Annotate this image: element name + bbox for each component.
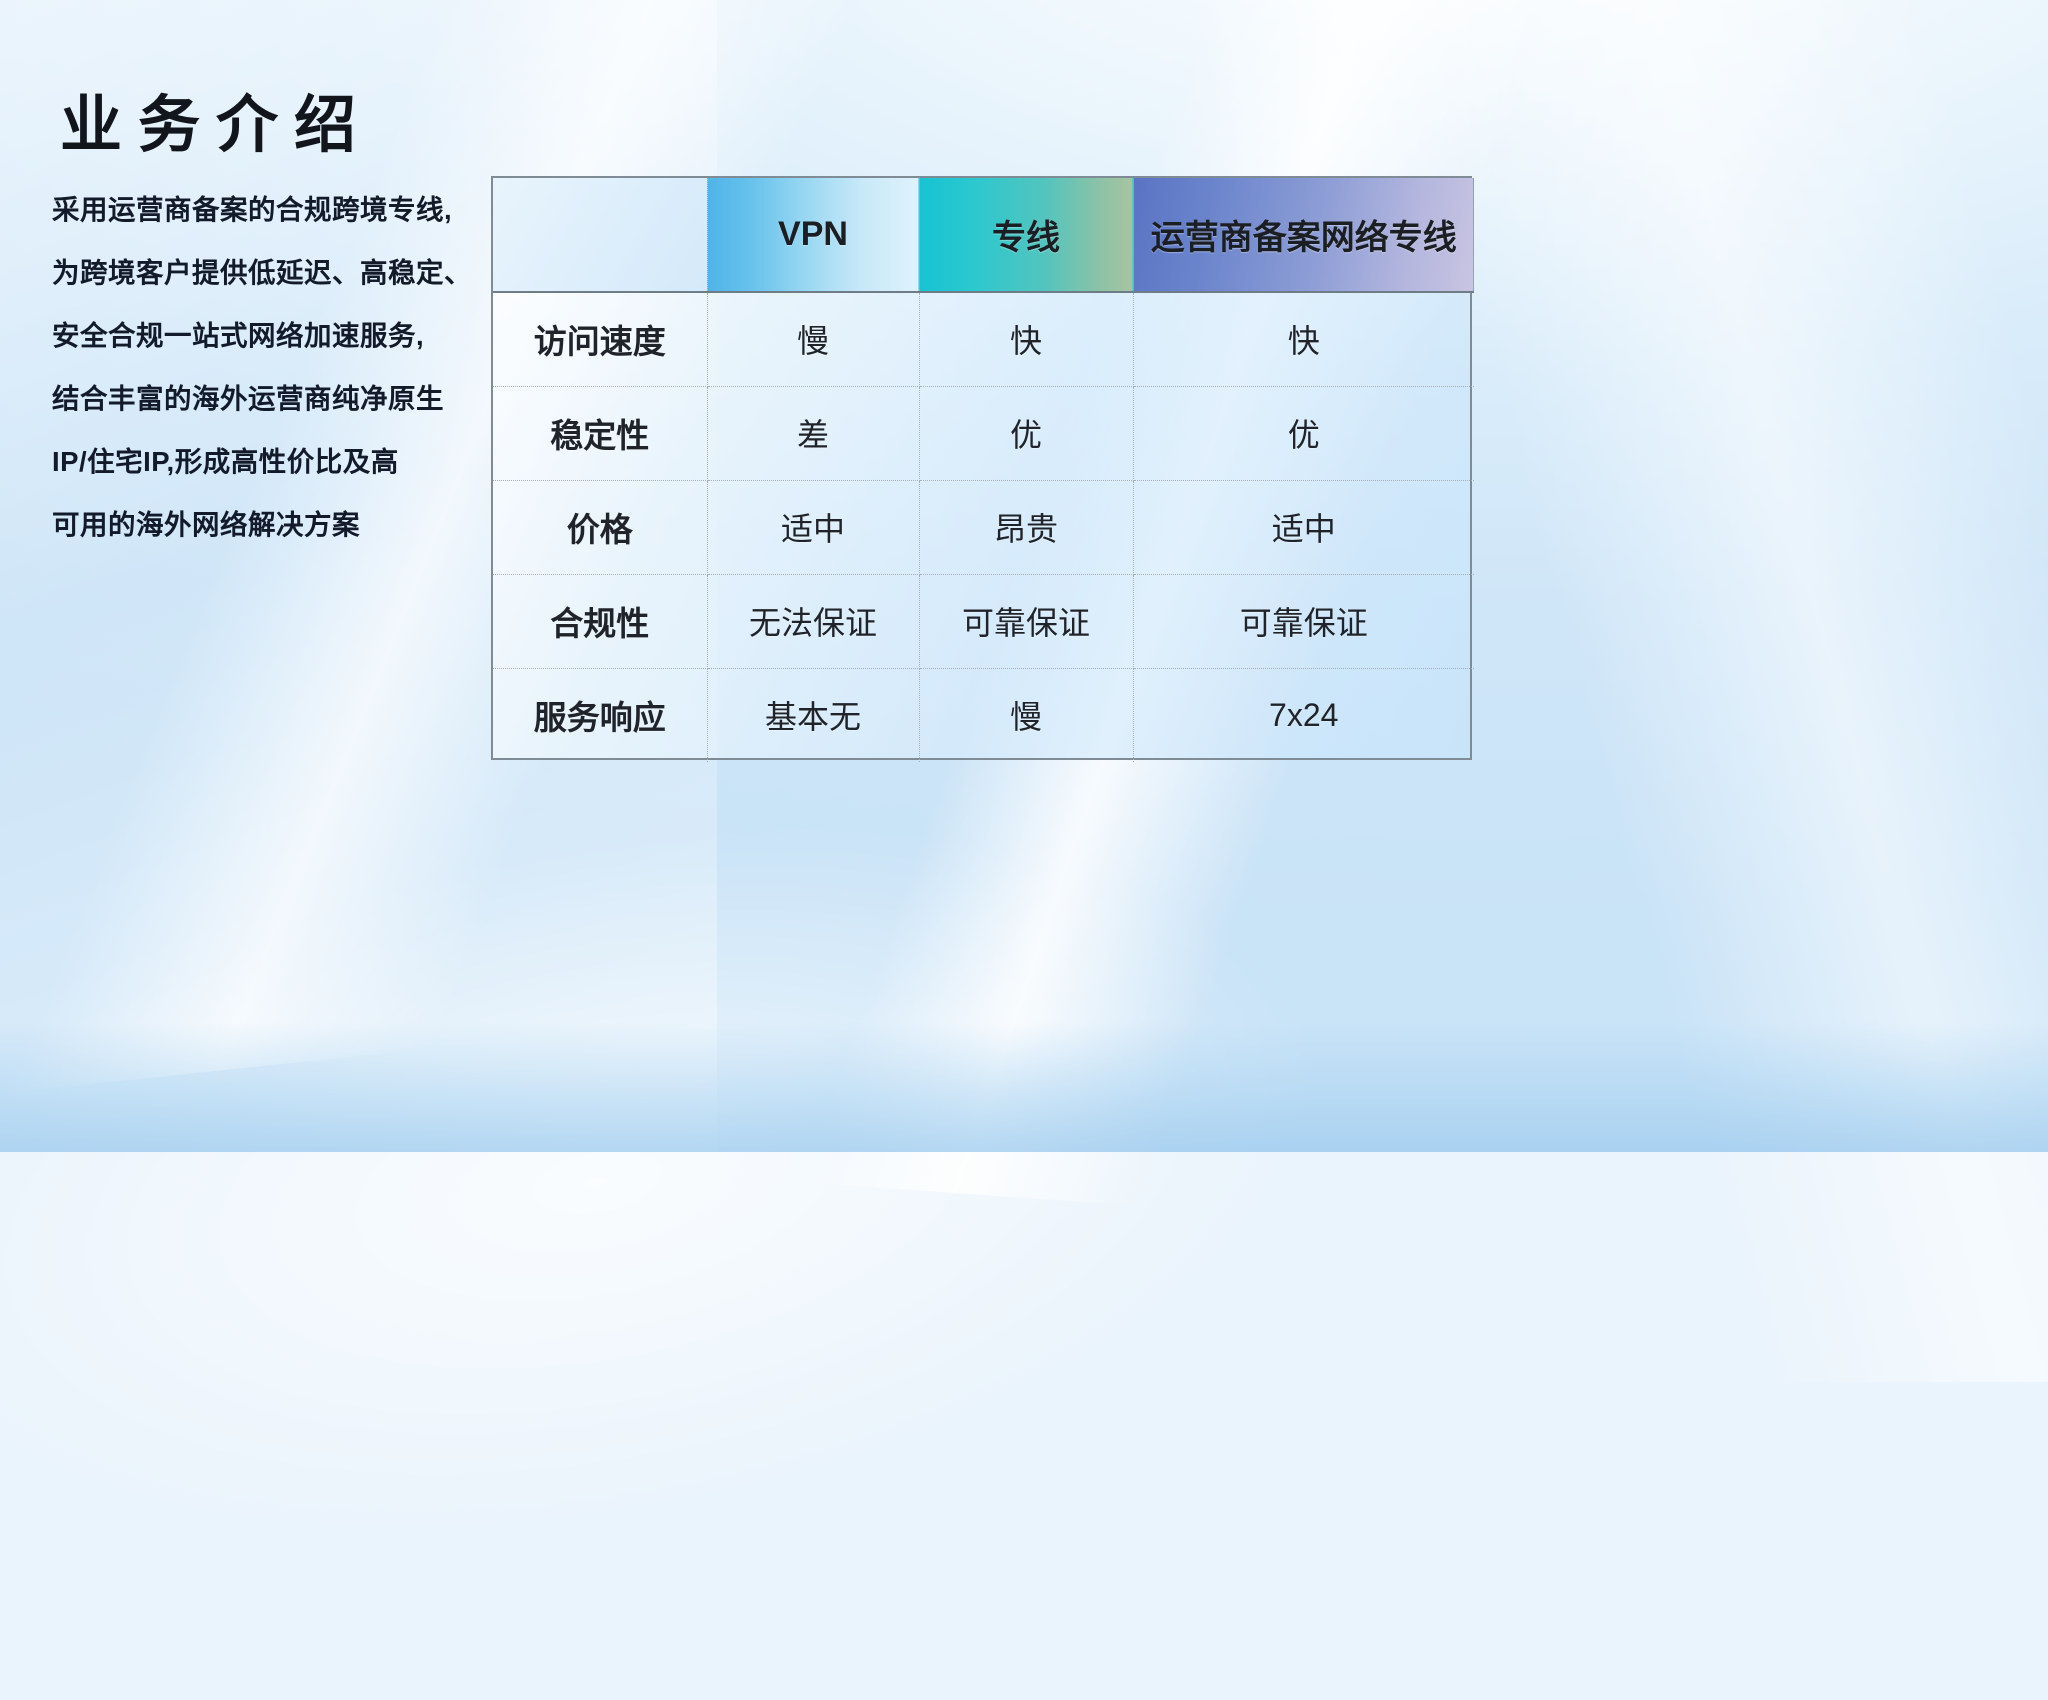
cell-filed: 7x24 — [1133, 668, 1474, 762]
cell-vpn: 无法保证 — [707, 574, 919, 668]
page-title: 业务介绍 — [60, 90, 372, 161]
cell-line: 快 — [919, 292, 1133, 386]
row-label: 服务响应 — [493, 668, 707, 762]
header-cell-vpn: VPN — [707, 178, 919, 292]
cell-vpn: 慢 — [707, 292, 919, 386]
table-row: 合规性 无法保证 可靠保证 可靠保证 — [493, 574, 1474, 668]
background-bottom-band — [0, 1022, 2048, 1152]
cell-filed: 可靠保证 — [1133, 574, 1474, 668]
intro-line: 安全合规一站式网络加速服务, — [52, 304, 482, 367]
row-label: 稳定性 — [493, 386, 707, 480]
row-label: 访问速度 — [493, 292, 707, 386]
cell-line: 慢 — [919, 668, 1133, 762]
cell-line: 昂贵 — [919, 480, 1133, 574]
table-body: 访问速度 慢 快 快 稳定性 差 优 优 价格 适中 昂贵 适中 合规性 无法保… — [493, 292, 1474, 762]
comparison-table-grid: VPN 专线 运营商备案网络专线 访问速度 慢 快 快 稳定性 差 优 优 价格… — [493, 178, 1474, 762]
header-cell-metric — [493, 178, 707, 292]
intro-line: 采用运营商备案的合规跨境专线, — [52, 178, 482, 241]
cell-line: 优 — [919, 386, 1133, 480]
table-row: 稳定性 差 优 优 — [493, 386, 1474, 480]
cell-vpn: 基本无 — [707, 668, 919, 762]
cell-line: 可靠保证 — [919, 574, 1133, 668]
header-cell-filed-line: 运营商备案网络专线 — [1133, 178, 1474, 292]
intro-line: IP/住宅IP,形成高性价比及高 — [52, 430, 482, 493]
cell-filed: 适中 — [1133, 480, 1474, 574]
cell-filed: 优 — [1133, 386, 1474, 480]
cell-vpn: 差 — [707, 386, 919, 480]
table-row: 价格 适中 昂贵 适中 — [493, 480, 1474, 574]
table-header: VPN 专线 运营商备案网络专线 — [493, 178, 1474, 292]
comparison-table: VPN 专线 运营商备案网络专线 访问速度 慢 快 快 稳定性 差 优 优 价格… — [491, 176, 1472, 760]
intro-line: 为跨境客户提供低延迟、高稳定、 — [52, 241, 482, 304]
header-cell-dedicated-line: 专线 — [919, 178, 1133, 292]
table-row: 服务响应 基本无 慢 7x24 — [493, 668, 1474, 762]
cell-vpn: 适中 — [707, 480, 919, 574]
intro-line: 结合丰富的海外运营商纯净原生 — [52, 367, 482, 430]
table-header-row: VPN 专线 运营商备案网络专线 — [493, 178, 1474, 292]
table-row: 访问速度 慢 快 快 — [493, 292, 1474, 386]
row-label: 价格 — [493, 480, 707, 574]
intro-paragraph: 采用运营商备案的合规跨境专线, 为跨境客户提供低延迟、高稳定、 安全合规一站式网… — [52, 178, 482, 556]
intro-line: 可用的海外网络解决方案 — [52, 493, 482, 556]
cell-filed: 快 — [1133, 292, 1474, 386]
row-label: 合规性 — [493, 574, 707, 668]
